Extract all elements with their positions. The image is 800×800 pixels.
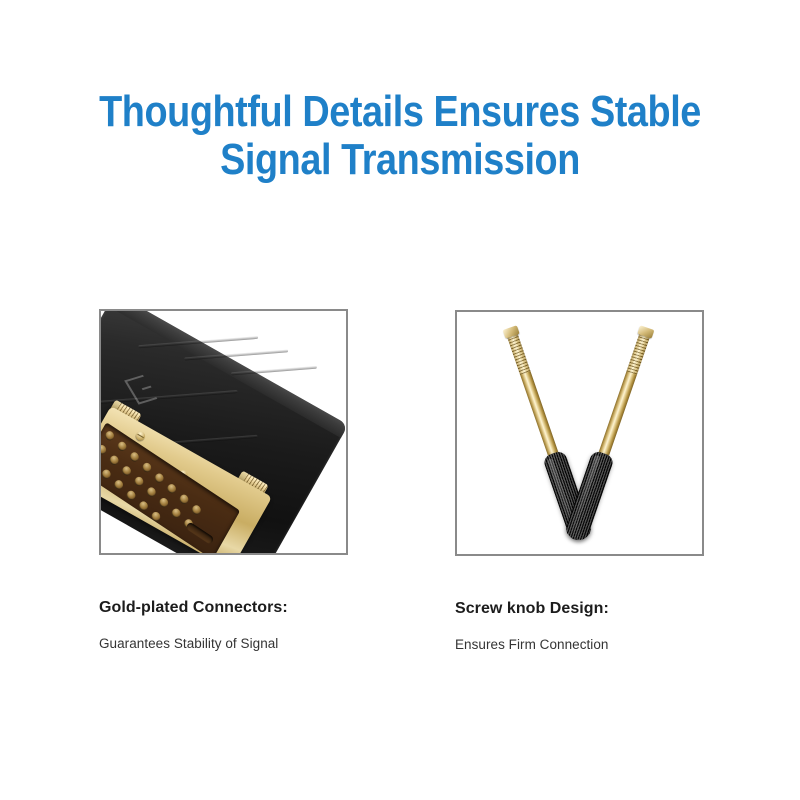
dvi-shield-rivet (134, 430, 146, 442)
feature-caption-screw-knob: Screw knob Design: Ensures Firm Connecti… (455, 600, 755, 652)
product-photo-frame-thumbscrews (455, 310, 704, 556)
feature-title: Screw knob Design: (455, 600, 755, 618)
feature-panel-gold-plated-connectors: Gold-plated Connectors: Guarantees Stabi… (99, 309, 348, 555)
thumbscrew-threads (626, 333, 649, 374)
thumbscrew-right (564, 329, 657, 543)
feature-subtitle: Guarantees Stability of Signal (99, 636, 399, 651)
product-photo-frame-dvi-connector (99, 309, 348, 555)
feature-title: Gold-plated Connectors: (99, 599, 399, 617)
feature-panel-screw-knob-design: Screw knob Design: Ensures Firm Connecti… (455, 310, 704, 556)
crossed-thumbscrews-illustration (457, 312, 702, 554)
page-headline: Thoughtful Details Ensures Stable Signal… (56, 88, 744, 184)
feature-subtitle: Ensures Firm Connection (455, 637, 755, 652)
dvi-housing-bevel (108, 309, 348, 438)
thumbscrew-threads (507, 333, 530, 374)
feature-caption-gold-plated: Gold-plated Connectors: Guarantees Stabi… (99, 599, 399, 651)
headline-line-1: Thoughtful Details Ensures Stable (56, 88, 744, 136)
dvi-connector-illustration (101, 311, 346, 553)
headline-line-2: Signal Transmission (56, 136, 744, 184)
dvi-blade-slot (185, 521, 214, 545)
